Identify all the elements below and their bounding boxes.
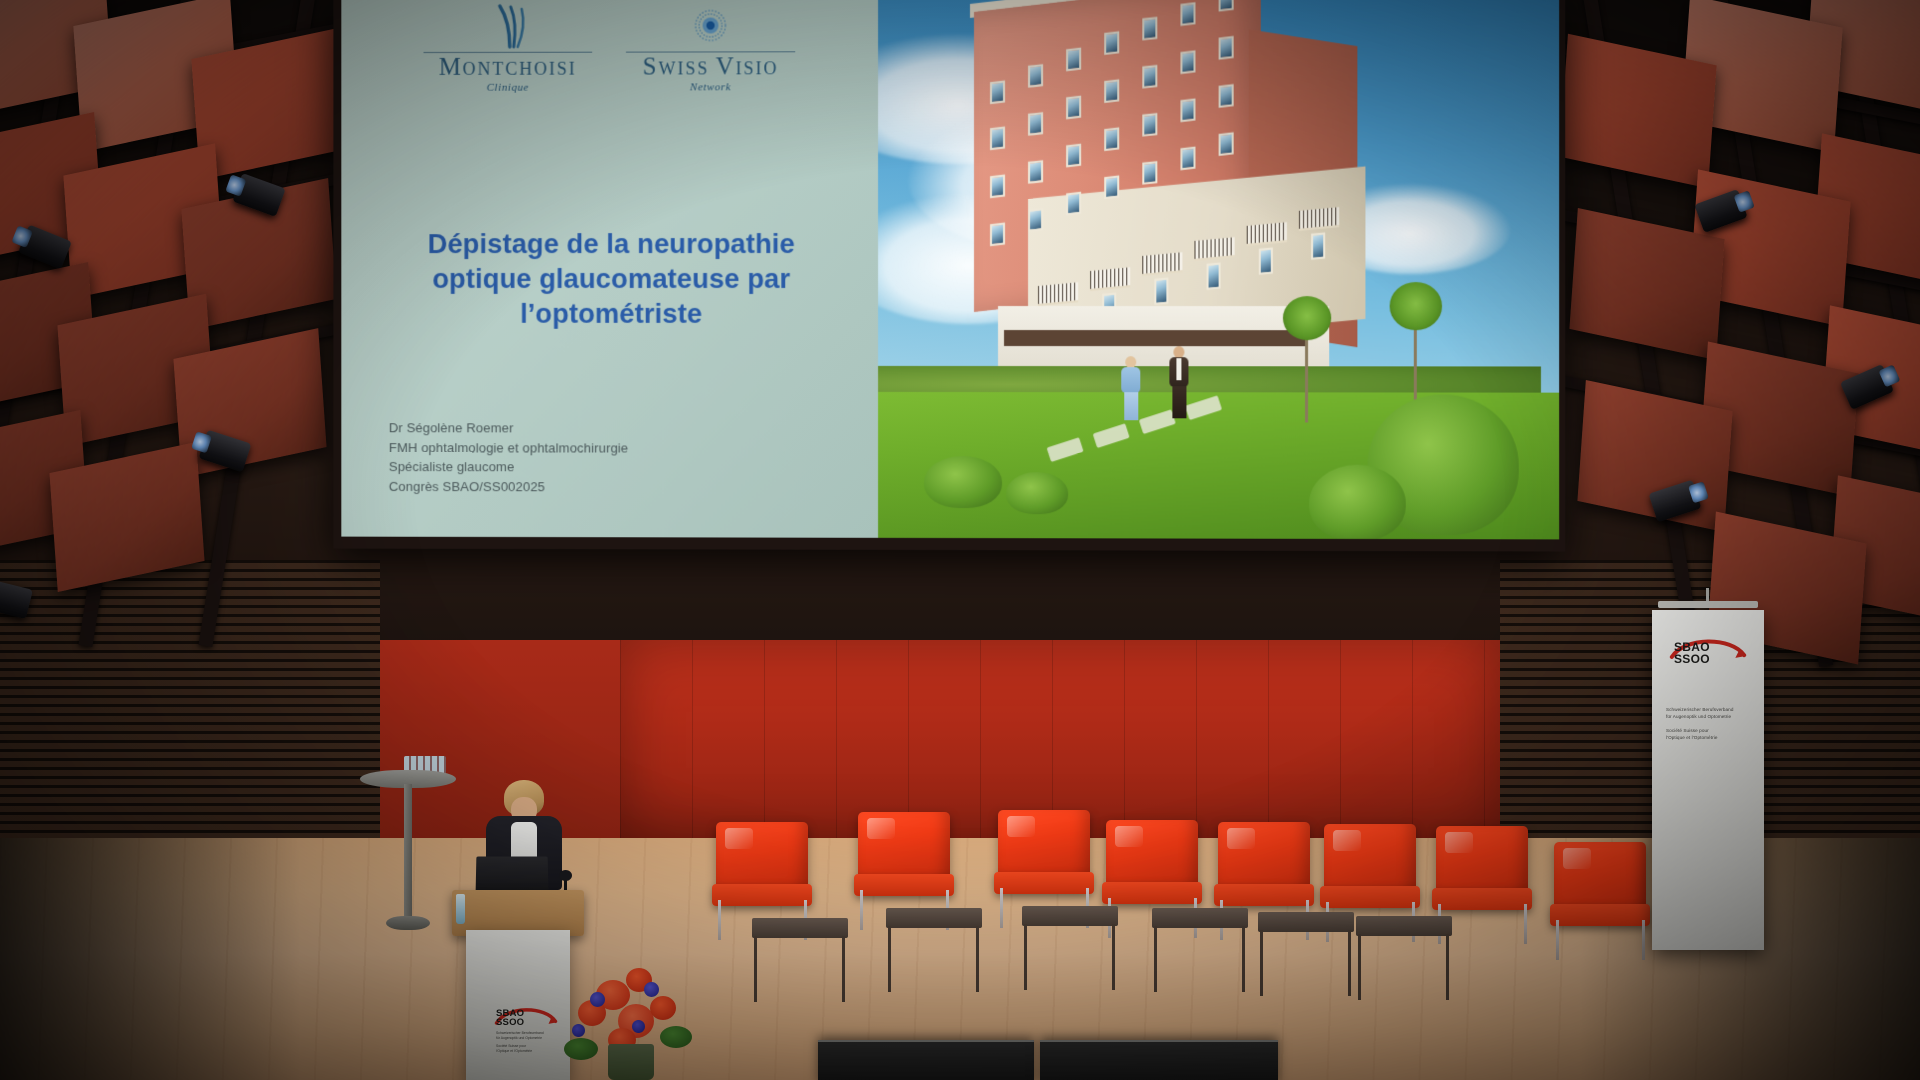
window — [1219, 0, 1234, 12]
chair-seat — [1214, 884, 1314, 906]
slide-title-line: Dépistage de la neuropathie — [363, 226, 860, 261]
podium-logo-french: Société Suisse pour l'Optique et l'Optom… — [496, 1044, 532, 1054]
logo-divider-rule — [626, 51, 795, 52]
side-table[interactable] — [752, 918, 848, 1002]
window — [990, 174, 1005, 198]
montchoisi-wordmark: MONTCHOISI — [423, 55, 592, 81]
window — [990, 80, 1005, 104]
table-top — [1022, 906, 1118, 926]
chair-seat — [994, 872, 1094, 894]
podium-logo-german: Schweizerischer Berufsverband für Augeno… — [496, 1031, 544, 1041]
window — [1142, 161, 1157, 185]
window — [1104, 127, 1119, 151]
table-leg — [1154, 926, 1157, 992]
swiss-visio-eye-icon — [626, 2, 795, 48]
table-leg — [1260, 930, 1263, 996]
tree-crown — [1390, 282, 1442, 330]
presentation-slide: MONTCHOISI Clinique — [341, 0, 1559, 539]
microphone-icon — [559, 870, 572, 881]
window — [1154, 278, 1168, 305]
flower-blue — [590, 992, 605, 1007]
side-table[interactable] — [1152, 908, 1248, 992]
table-top — [1258, 912, 1354, 932]
legs — [1172, 386, 1186, 418]
montchoisi-swoosh-icon — [423, 3, 592, 49]
high-pedestal-table[interactable] — [360, 770, 456, 940]
banner-french-line-1: Société Suisse pour — [1666, 727, 1752, 734]
shirt — [1176, 358, 1181, 380]
chair-leg — [1556, 920, 1559, 960]
table-top — [752, 918, 848, 938]
side-table[interactable] — [1022, 906, 1118, 990]
slide-title-line: l’optométriste — [363, 296, 860, 331]
balcony — [1090, 267, 1130, 291]
chair-seat — [1550, 904, 1650, 926]
projection-screen: MONTCHOISI Clinique — [333, 0, 1565, 552]
balcony — [1194, 237, 1234, 261]
credit-line-qualification: FMH ophtalmologie et ophtalmochirurgie — [389, 438, 628, 458]
window — [1180, 98, 1195, 122]
window — [1311, 232, 1325, 259]
table-leg — [1446, 934, 1449, 1000]
flower-blue — [632, 1020, 645, 1033]
confidence-monitor — [818, 1040, 1034, 1080]
flower-arrangement — [556, 952, 706, 1080]
water-bottle — [456, 894, 465, 924]
chair-leg — [1524, 904, 1527, 944]
side-table[interactable] — [1356, 916, 1452, 1000]
window — [1180, 2, 1195, 26]
banner-french-text: Société Suisse pour l'Optique et l'Optom… — [1666, 727, 1752, 741]
balcony — [1247, 222, 1287, 246]
window — [1180, 50, 1195, 74]
lectern-body: SBAO SSOO Schweizerischer Berufsverband … — [466, 930, 570, 1080]
swiss-visio-logo: SWISS VISIO Network — [626, 2, 795, 93]
acoustic-panel-cluster-left — [0, 0, 330, 620]
banner-sbao-logo: SBAO SSOO — [1662, 634, 1754, 696]
man-in-dark-suit — [1166, 346, 1192, 418]
chair-seat — [854, 874, 954, 896]
sbao-ssoo-banner: SBAO SSOO Schweizerischer Berufsverband … — [1652, 610, 1764, 950]
podium-french-line-2: l'Optique et l'Optométrie — [496, 1049, 532, 1054]
side-table[interactable] — [1258, 912, 1354, 996]
credit-line-presenter: Dr Ségolène Roemer — [389, 418, 628, 438]
balcony — [1299, 207, 1339, 231]
window — [1219, 36, 1234, 60]
banner-logo-line-2: SSOO — [1674, 652, 1710, 666]
flower-blue — [644, 982, 659, 997]
bush — [1309, 465, 1406, 540]
slide-text-panel: MONTCHOISI Clinique — [341, 0, 878, 538]
vase — [608, 1044, 654, 1080]
swiss-visio-wordmark: SWISS VISIO — [626, 54, 795, 80]
tree-crown — [1283, 296, 1331, 340]
chair-seat — [1102, 882, 1202, 904]
slide-title-line: optique glaucomateuse par — [363, 261, 860, 296]
window — [1180, 147, 1195, 171]
chair-leg — [718, 900, 721, 940]
table-leg — [976, 926, 979, 992]
table-leg — [1348, 930, 1351, 996]
table-top — [1152, 908, 1248, 928]
table-leg — [1358, 934, 1361, 1000]
bush — [924, 456, 1002, 508]
chair-seat — [712, 884, 812, 906]
chair-seat — [1320, 886, 1420, 908]
table-top — [1356, 916, 1452, 936]
table-leg — [754, 936, 757, 1002]
window — [990, 222, 1005, 246]
table-base — [386, 916, 430, 930]
banner-french-line-2: l'Optique et l'Optométrie — [1666, 734, 1752, 741]
window — [1142, 113, 1157, 137]
chair-seat — [1432, 888, 1532, 910]
swiss-visio-subtitle: Network — [626, 82, 795, 94]
annex-window-band — [1004, 330, 1305, 346]
window — [1259, 247, 1273, 274]
window — [1066, 48, 1081, 72]
foliage — [660, 1026, 692, 1048]
credit-line-specialty: Spécialiste glaucome — [389, 457, 628, 477]
window — [1207, 262, 1221, 289]
chair-leg — [1642, 920, 1645, 960]
podium-german-line-2: für Augenoptik und Optometrie — [496, 1036, 544, 1041]
table-leg — [1242, 926, 1245, 992]
table-leg — [1024, 924, 1027, 990]
banner-german-text: Schweizerischer Berufsverband für Augeno… — [1666, 706, 1752, 720]
auditorium-scene: MONTCHOISI Clinique — [0, 0, 1920, 1080]
acoustic-panel-cluster-right — [1520, 0, 1920, 620]
table-leg — [1112, 924, 1115, 990]
window — [1028, 112, 1043, 136]
window — [1066, 96, 1081, 120]
balcony — [1038, 282, 1078, 306]
podium-logo-line-2: SSOO — [496, 1017, 524, 1028]
logo-divider-rule — [423, 52, 592, 53]
confidence-monitor — [1040, 1040, 1278, 1080]
table-stem — [404, 784, 412, 920]
slide-title: Dépistage de la neuropathie optique glau… — [363, 226, 860, 331]
side-table[interactable] — [886, 908, 982, 992]
floor-shadow — [0, 838, 300, 1080]
window — [990, 126, 1005, 150]
torso — [1121, 367, 1140, 393]
flower-blue — [572, 1024, 585, 1037]
banner-description: Schweizerischer Berufsverband für Augeno… — [1666, 706, 1752, 748]
podium-sbao-logo: SBAO SSOO Schweizerischer Berufsverband … — [488, 1004, 564, 1064]
window — [1219, 132, 1234, 156]
window — [1104, 31, 1119, 55]
window — [1028, 160, 1043, 184]
montchoisi-logo: MONTCHOISI Clinique — [423, 3, 592, 94]
chair-leg — [1000, 888, 1003, 928]
slide-logo-band: MONTCHOISI Clinique — [341, 2, 878, 94]
bush — [1006, 472, 1068, 514]
chair-leg — [860, 890, 863, 930]
balcony — [1142, 252, 1182, 276]
montchoisi-subtitle: Clinique — [423, 82, 592, 94]
slide-credits: Dr Ségolène Roemer FMH ophtalmologie et … — [389, 418, 628, 497]
foliage — [564, 1038, 598, 1060]
legs — [1124, 392, 1138, 420]
credit-line-congress: Congrès SBAO/SS002025 — [389, 477, 628, 497]
window — [1142, 17, 1157, 41]
nurse-in-blue-scrubs — [1118, 356, 1144, 420]
window — [1028, 64, 1043, 88]
window — [1142, 65, 1157, 89]
stage-chair[interactable] — [1548, 842, 1652, 960]
window — [1066, 144, 1081, 168]
flower — [650, 996, 676, 1020]
window — [1219, 84, 1234, 108]
laptop[interactable] — [476, 856, 549, 891]
window — [1104, 79, 1119, 103]
clinic-building-photo — [878, 0, 1559, 539]
stage-light — [0, 579, 33, 619]
banner-german-line-2: für Augenoptik und Optometrie — [1666, 713, 1752, 720]
table-leg — [842, 936, 845, 1002]
table-top — [886, 908, 982, 928]
table-leg — [888, 926, 891, 992]
banner-german-line-1: Schweizerischer Berufsverband — [1666, 706, 1752, 713]
banner-top-bar — [1658, 601, 1758, 608]
